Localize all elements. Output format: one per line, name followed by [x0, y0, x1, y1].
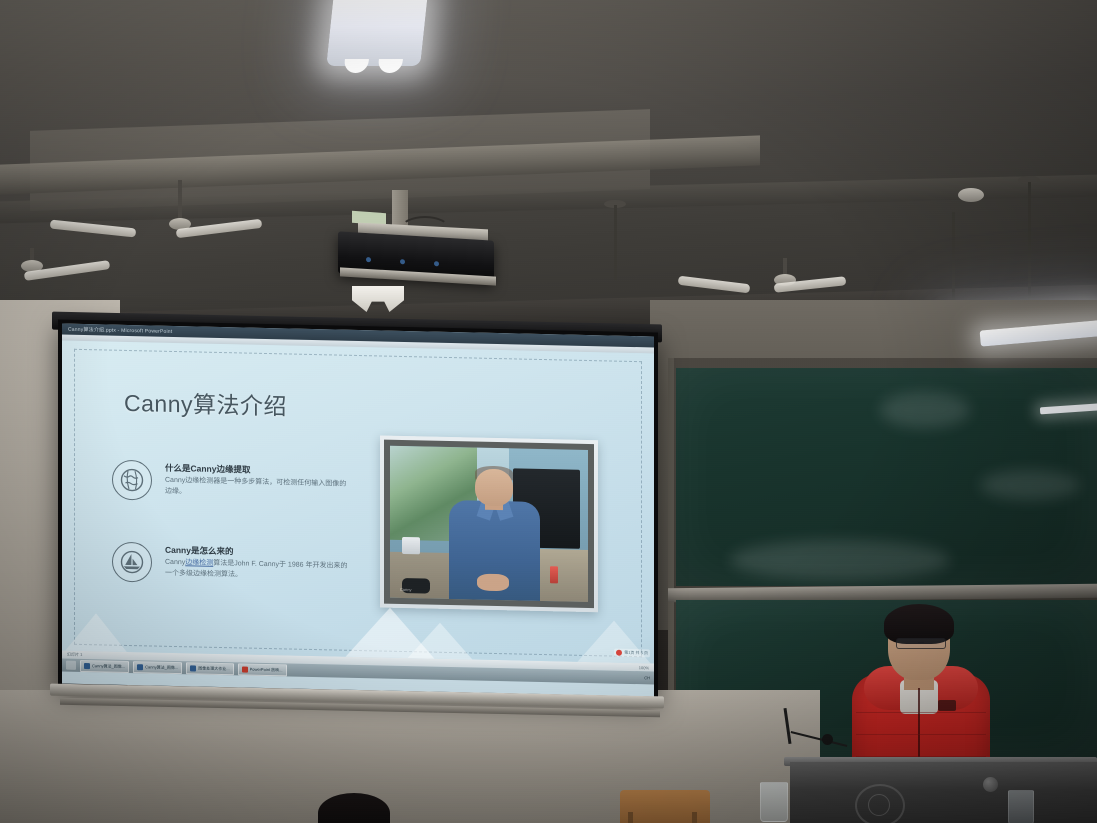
- bullet-2-heading: Canny是怎么来的: [165, 545, 352, 559]
- bullet-1-body-pre: Canny: [165, 477, 185, 484]
- taskbar-item-label: PowerPoint 放映...: [250, 666, 283, 673]
- bullet-2-body-pre: Canny: [165, 559, 185, 566]
- taskbar-item-2[interactable]: 图像处理大作业...: [186, 662, 233, 675]
- jacket-logo: [938, 700, 956, 711]
- badge-dot-icon: [616, 650, 622, 656]
- projected-desktop: Canny算法介绍.pptx - Microsoft PowerPoint Ca…: [62, 324, 654, 697]
- bullet-2-body: Canny边缘检测算法是John F. Canny于 1986 年开发出来的一个…: [165, 558, 352, 584]
- smoke-detector-icon: [958, 188, 984, 202]
- chalk-smudge: [880, 392, 970, 428]
- classroom-scene: Canny算法介绍.pptx - Microsoft PowerPoint Ca…: [0, 0, 1097, 823]
- taskbar-item-0[interactable]: Canny算法_图像...: [80, 659, 129, 672]
- sailboat-icon: [112, 542, 152, 583]
- projection-screen: Canny算法介绍.pptx - Microsoft PowerPoint Ca…: [58, 319, 658, 700]
- lectern: [790, 762, 1097, 823]
- slide-decoration-triangle: [62, 613, 130, 656]
- bullet-2-body-link[interactable]: 边缘检测: [185, 559, 213, 567]
- drinking-glass-secondary: [1008, 790, 1034, 823]
- status-zoom-level: 100%: [639, 665, 649, 670]
- microphone-head-icon: [822, 734, 833, 745]
- slide-page-badge: 第1页 共 5 页: [614, 649, 650, 658]
- taskbar-item-1[interactable]: Canny算法_图像...: [133, 661, 182, 674]
- system-tray[interactable]: CH: [644, 675, 650, 680]
- slide-decoration-triangle: [404, 622, 476, 663]
- taskbar-item-label: Canny算法_图像...: [92, 663, 125, 670]
- lectern-knob: [983, 777, 998, 792]
- slide-bullet-2: Canny是怎么来的 Canny边缘检测算法是John F. Canny于 19…: [112, 542, 352, 587]
- chalk-smudge: [730, 540, 950, 580]
- slide-photo-frame: Canny: [380, 435, 598, 612]
- ceiling-light-fixture: [326, 0, 428, 66]
- pendant-rod-b: [1028, 182, 1031, 308]
- pendant-rod-a: [614, 205, 617, 280]
- tray-ime-indicator[interactable]: CH: [644, 675, 650, 680]
- taskbar-item-label: Canny算法_图像...: [145, 664, 178, 671]
- ceiling-fan-left: [120, 180, 240, 260]
- start-button[interactable]: [66, 661, 76, 670]
- slide-title: Canny算法介绍: [124, 384, 287, 422]
- chalk-smudge: [980, 470, 1080, 500]
- wooden-chair: [620, 790, 710, 823]
- bullet-1-body: Canny边缘检测器是一种多步算法，可检测任何输入图像的边缘。: [165, 476, 352, 502]
- eyeglasses-icon: [896, 638, 946, 649]
- slide-page-number: 第1页 共 5 页: [624, 650, 648, 657]
- slide-bullet-1: 什么是Canny边缘提取 Canny边缘检测器是一种多步算法，可检测任何输入图像…: [112, 460, 352, 505]
- taskbar-item-3[interactable]: PowerPoint 放映...: [238, 663, 287, 676]
- slide-canvas: Canny算法介绍 什么是Canny边缘提取: [62, 341, 654, 664]
- bullet-1-heading: 什么是Canny边缘提取: [165, 463, 352, 477]
- drinking-glass: [760, 782, 788, 822]
- bullet-1-body-text: 边缘检测器是一种多步算法，可检测任何输入图像的边缘。: [165, 477, 346, 495]
- projector-cable: [400, 216, 450, 242]
- taskbar-item-label: 图像处理大作业...: [198, 665, 229, 672]
- slide-photo: Canny: [390, 446, 588, 602]
- window-title: Canny算法介绍.pptx - Microsoft PowerPoint: [68, 326, 172, 335]
- explorer-icon: [84, 663, 90, 669]
- explorer-icon: [137, 664, 143, 670]
- university-crest-icon: [855, 784, 905, 823]
- photo-watermark: Canny: [400, 587, 412, 592]
- powerpoint-icon: [242, 666, 248, 672]
- status-slide-number: 幻灯片 1: [67, 652, 82, 658]
- globe-icon: [112, 460, 152, 501]
- folder-icon: [190, 665, 196, 671]
